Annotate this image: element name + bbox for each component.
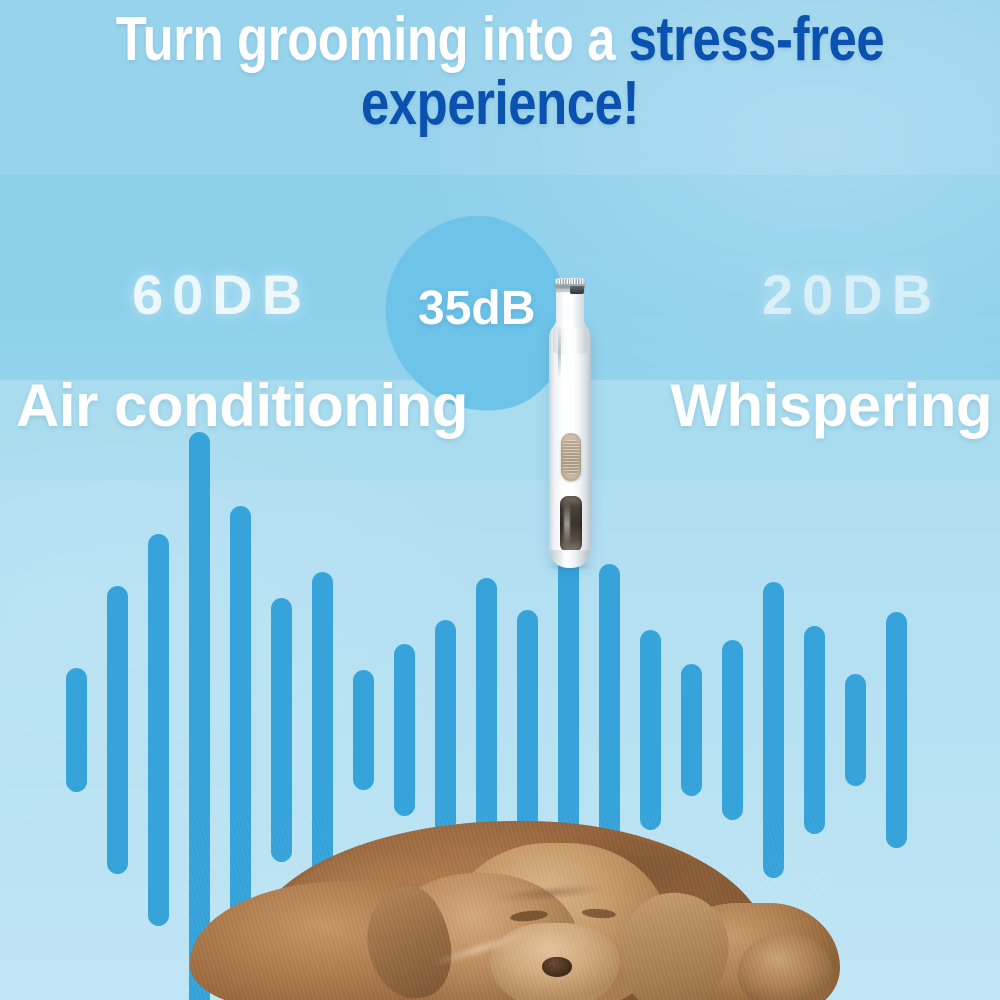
headline-blue-text: stress-free (629, 5, 885, 74)
headline-white-text: Turn grooming into a (116, 5, 629, 74)
caption-whispering: Whispering (670, 371, 992, 440)
headline-line-1: Turn grooming into a stress-free (90, 8, 910, 72)
waveform-bar (640, 630, 661, 830)
waveform-bar (722, 640, 743, 820)
waveform-bar (107, 586, 128, 874)
headline: Turn grooming into a stress-free experie… (90, 8, 910, 135)
headline-line-2: experience! (90, 72, 910, 136)
waveform-bar (681, 664, 702, 796)
waveform-bar (435, 620, 456, 840)
waveform-bar (886, 612, 907, 848)
dog-nose (542, 957, 572, 977)
trimmer-button-ribs (563, 440, 579, 474)
headline-blue-text-2: experience! (361, 69, 639, 138)
trimmer-blade-teeth (556, 279, 584, 284)
two-sleeping-puppies (190, 815, 830, 1000)
product-marketing-poster: Turn grooming into a stress-free experie… (0, 0, 1000, 1000)
waveform-bar (148, 534, 169, 926)
db-label-right: 20DB (762, 262, 941, 327)
waveform-bar (517, 610, 538, 850)
pet-grooming-trimmer (534, 278, 604, 568)
waveform-bar (845, 674, 866, 786)
waveform-bar (66, 668, 87, 792)
db-label-left: 60DB (132, 262, 311, 327)
waveform-bar (394, 644, 415, 816)
waveform-bar (353, 670, 374, 790)
trimmer-blade-shadow (570, 286, 584, 294)
caption-air-conditioning: Air conditioning (16, 371, 468, 440)
db-label-center: 35dB (418, 281, 535, 336)
waveform-bar (804, 626, 825, 834)
trimmer-window-sheen (564, 502, 570, 546)
trimmer-neck (556, 288, 584, 328)
